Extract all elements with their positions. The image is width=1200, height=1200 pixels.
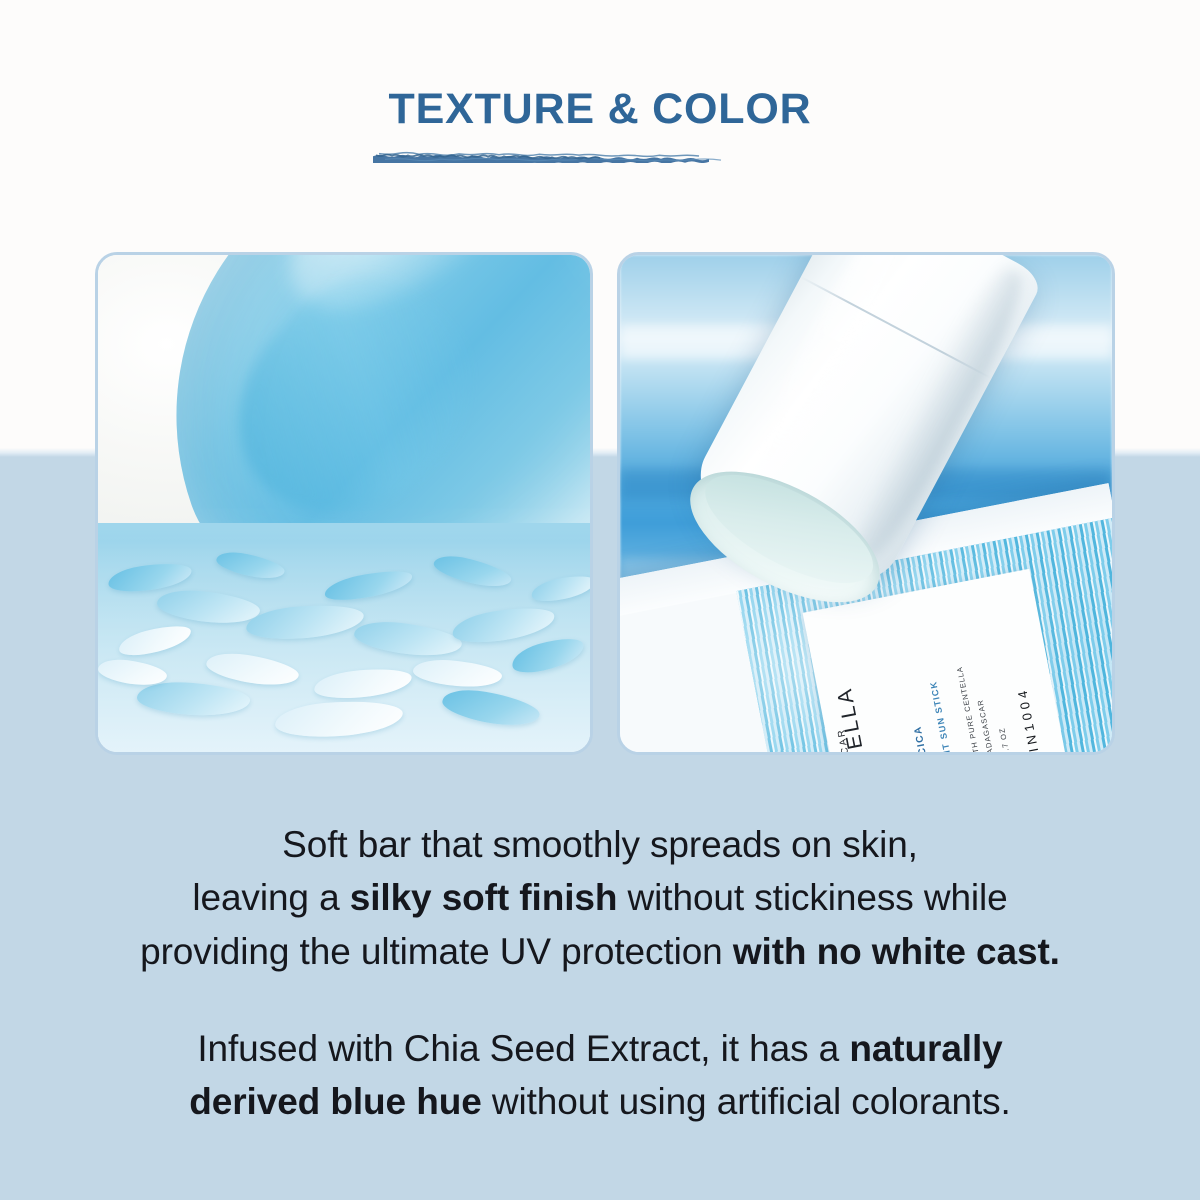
- photo-gallery: MADAGASCAR CENTELLA HYALU-CICA SILKY-FIT…: [95, 252, 1115, 755]
- label-product-name: HYALU-CICA: [913, 725, 938, 755]
- label-product-type: SILKY-FIT SUN STICK: [929, 680, 961, 755]
- photo-texture-closeup[interactable]: [95, 252, 593, 755]
- header: TEXTURE & COLOR: [0, 86, 1200, 163]
- body-copy: Soft bar that smoothly spreads on skin,l…: [0, 818, 1200, 1128]
- brush-stroke-divider-icon: [371, 149, 829, 163]
- photo-product-shot[interactable]: MADAGASCAR CENTELLA HYALU-CICA SILKY-FIT…: [617, 252, 1115, 755]
- paragraph-texture: Soft bar that smoothly spreads on skin,l…: [0, 818, 1200, 978]
- crumbled-flake-field: [98, 523, 590, 752]
- page-title: TEXTURE & COLOR: [0, 86, 1200, 133]
- label-brand: SKIN1004: [1015, 686, 1047, 755]
- bar-edge-shading: [195, 252, 509, 558]
- paragraph-color: Infused with Chia Seed Extract, it has a…: [0, 1022, 1200, 1129]
- marketing-page: TEXTURE & COLOR: [0, 0, 1200, 1200]
- label-size: 20G / 0.7 OZ: [998, 727, 1017, 755]
